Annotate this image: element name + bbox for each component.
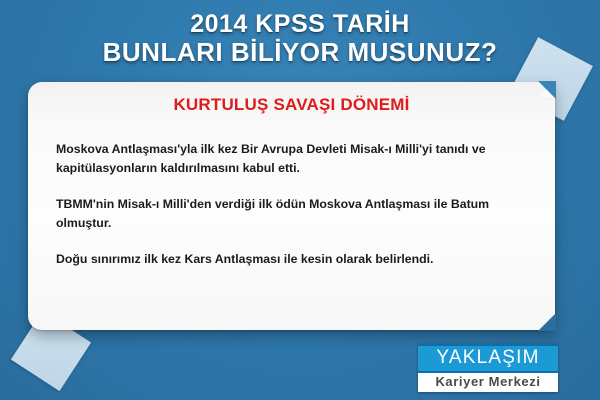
- poster-canvas: 2014 KPSS TARİH BUNLARI BİLİYOR MUSUNUZ?…: [0, 0, 600, 400]
- brand-logo-tagline: Kariyer Merkezi: [418, 374, 558, 390]
- brand-logo-name: YAKLAŞIM: [418, 348, 558, 368]
- poster-header: 2014 KPSS TARİH BUNLARI BİLİYOR MUSUNUZ?: [0, 10, 600, 66]
- header-title-line-1: 2014 KPSS TARİH: [0, 10, 600, 38]
- brand-logo-tagline-bar: Kariyer Merkezi: [418, 373, 558, 392]
- content-card: KURTULUŞ SAVAŞI DÖNEMİ Moskova Antlaşmas…: [28, 82, 555, 330]
- fact-paragraph-1: Moskova Antlaşması'yla ilk kez Bir Avrup…: [56, 140, 528, 178]
- header-title-line-2: BUNLARI BİLİYOR MUSUNUZ?: [0, 38, 600, 66]
- card-body: Moskova Antlaşması'yla ilk kez Bir Avrup…: [56, 140, 528, 269]
- card-subtitle: KURTULUŞ SAVAŞI DÖNEMİ: [28, 95, 555, 115]
- fact-paragraph-3: Doğu sınırımız ilk kez Kars Antlaşması i…: [56, 250, 528, 269]
- brand-logo[interactable]: YAKLAŞIM Kariyer Merkezi: [418, 344, 558, 392]
- card-corner-top-right: [538, 81, 556, 99]
- fact-paragraph-2: TBMM'nin Misak-ı Milli'den verdiği ilk ö…: [56, 195, 528, 233]
- brand-logo-bar: YAKLAŞIM: [418, 344, 558, 373]
- card-corner-bottom-right: [538, 313, 556, 331]
